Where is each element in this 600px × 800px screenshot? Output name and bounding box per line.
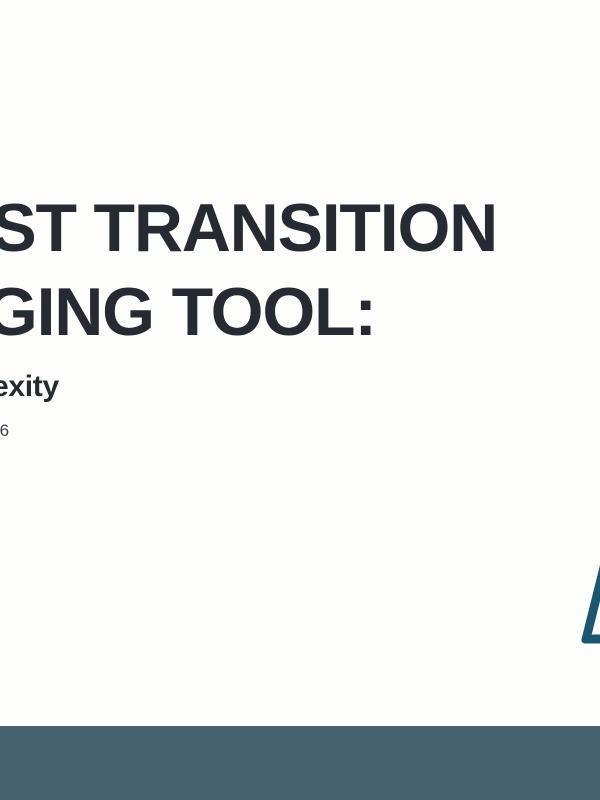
title-slide: L JUST TRANSITION TAGGING TOOL: lify Com… — [0, 0, 600, 800]
page-title: L JUST TRANSITION TAGGING TOOL: — [0, 186, 600, 354]
title-line-1: L JUST TRANSITION — [0, 186, 600, 270]
title-line-2: TAGGING TOOL: — [0, 270, 600, 354]
tag-outline-path — [586, 551, 600, 639]
slide-byline: trategies TIPS | 2026 — [0, 419, 600, 443]
tag-outline-icon — [548, 543, 600, 653]
slide-subtitle: lify Complexity — [0, 367, 600, 407]
footer-band — [0, 726, 600, 800]
